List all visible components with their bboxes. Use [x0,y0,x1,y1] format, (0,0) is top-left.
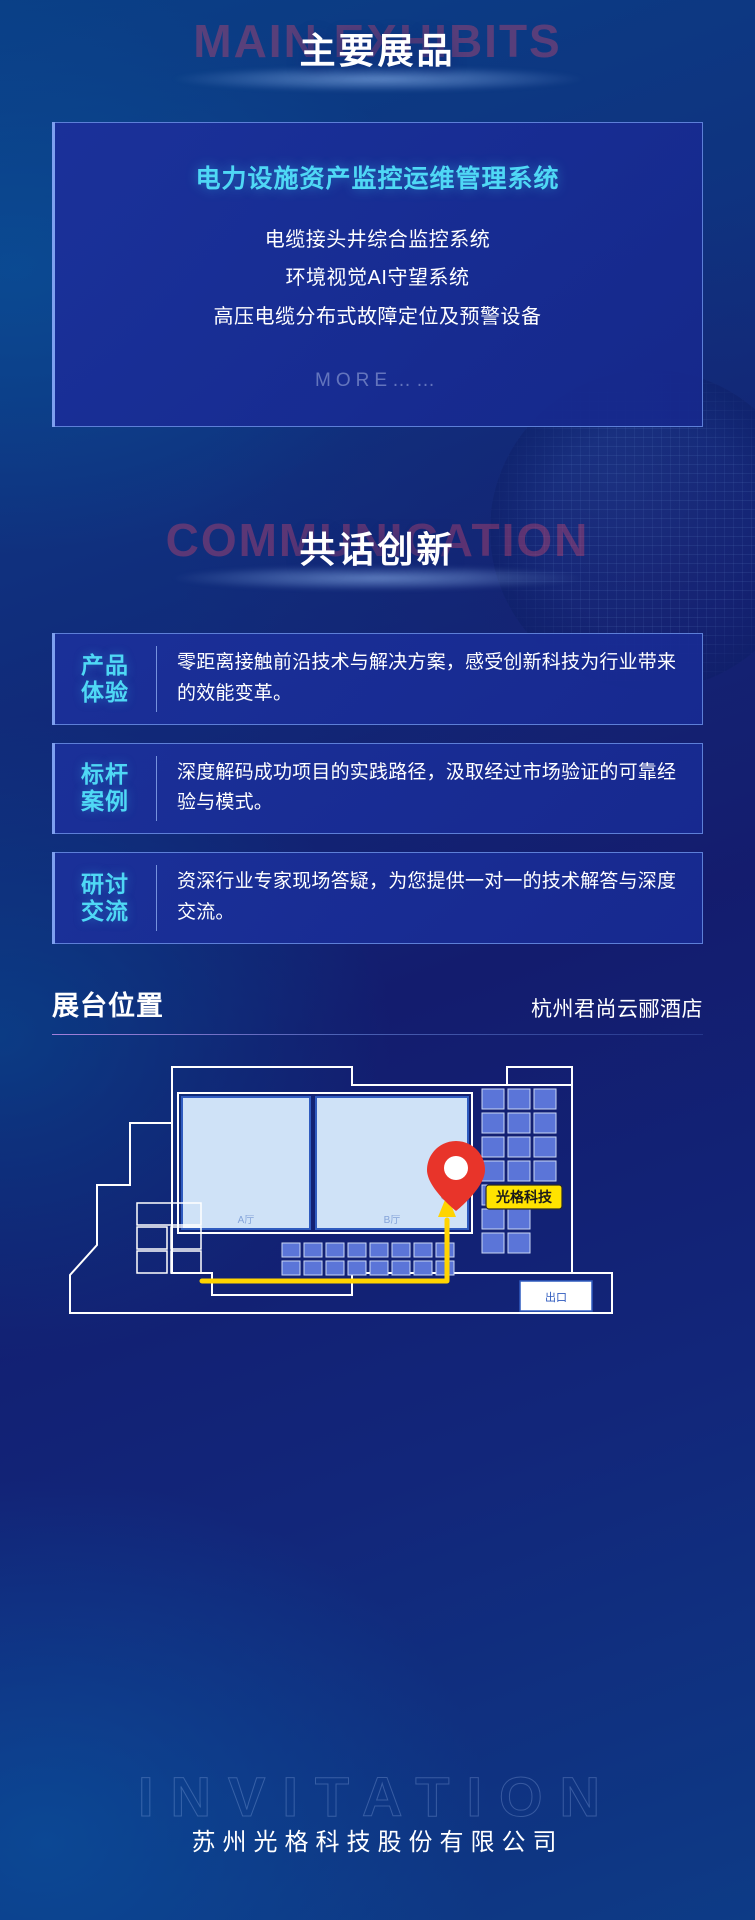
feature-card-product-experience[interactable]: 产品 体验 零距离接触前沿技术与解决方案，感受创新科技为行业带来的效能变革。 [52,633,703,725]
feature-text: 资深行业专家现场答疑，为您提供一对一的技术解答与深度交流。 [157,853,702,943]
footer-ghost-word: INVITATION [0,1764,755,1829]
booth-title-text: 展台位置 [52,991,164,1021]
floor-map[interactable]: 光格科技 出口 A厅 B厅 [0,1045,755,1345]
feature-card-list: 产品 体验 零距离接触前沿技术与解决方案，感受创新科技为行业带来的效能变革。 标… [52,633,703,944]
feature-tag: 产品 体验 [53,634,157,724]
exhibit-item-list: 电缆接头井综合监控系统 环境视觉AI守望系统 高压电缆分布式故障定位及预警设备 [79,221,676,336]
more-link[interactable]: MORE…… [79,370,676,392]
feature-tag-line1: 标杆 [81,761,129,788]
feature-tag-line1: 产品 [81,652,129,679]
feature-text: 深度解码成功项目的实践路径，汲取经过市场验证的可靠经验与模式。 [157,744,702,834]
map-exit: 出口 [520,1281,592,1311]
exhibit-item: 环境视觉AI守望系统 [79,259,676,297]
feature-tag: 标杆 案例 [53,744,157,834]
booth-hotel-name: 杭州君尚云郦酒店 [531,993,703,1025]
exhibits-section-header: MAIN EXHIBITS 主要展品 [0,0,755,112]
map-booth-grid [482,1089,556,1253]
exhibit-item: 高压电缆分布式故障定位及预警设备 [79,298,676,336]
communication-section-header: COMMUNICATION 共话创新 [0,499,755,611]
booth-divider [52,1034,703,1035]
exhibit-card[interactable]: 电力设施资产监控运维管理系统 电缆接头井综合监控系统 环境视觉AI守望系统 高压… [52,122,703,427]
svg-text:B厅: B厅 [384,1215,401,1226]
feature-card-benchmark-case[interactable]: 标杆 案例 深度解码成功项目的实践路径，汲取经过市场验证的可靠经验与模式。 [52,743,703,835]
booth-marker-label-text: 光格科技 [495,1189,553,1205]
feature-tag: 研讨 交流 [53,853,157,943]
feature-text: 零距离接触前沿技术与解决方案，感受创新科技为行业带来的效能变革。 [157,634,702,724]
exhibit-card-title: 电力设施资产监控运维管理系统 [79,159,676,195]
feature-tag-line2: 案例 [81,788,129,815]
booth-header-row: 展台位置 杭州君尚云郦酒店 [52,984,703,1025]
poster-page: MAIN EXHIBITS 主要展品 电力设施资产监控运维管理系统 电缆接头井综… [0,0,755,1920]
feature-tag-line2: 交流 [81,898,129,925]
exhibits-title: 主要展品 [0,22,755,74]
feature-tag-line1: 研讨 [81,871,129,898]
booth-title: 展台位置 [52,984,164,1025]
svg-text:A厅: A厅 [238,1215,255,1226]
floor-map-svg: 光格科技 出口 A厅 B厅 [0,1045,755,1345]
map-exit-label: 出口 [545,1290,567,1304]
communication-title: 共话创新 [0,521,755,573]
footer: INVITATION 苏州光格科技股份有限公司 [0,1750,755,1920]
exhibit-item: 电缆接头井综合监控系统 [79,221,676,259]
booth-location-section: 展台位置 杭州君尚云郦酒店 [52,984,703,1035]
company-name: 苏州光格科技股份有限公司 [0,1822,755,1857]
feature-tag-line2: 体验 [81,679,129,706]
map-lower-booths [282,1243,454,1275]
feature-card-seminar-exchange[interactable]: 研讨 交流 资深行业专家现场答疑，为您提供一对一的技术解答与深度交流。 [52,852,703,944]
booth-marker-label: 光格科技 [486,1185,562,1209]
